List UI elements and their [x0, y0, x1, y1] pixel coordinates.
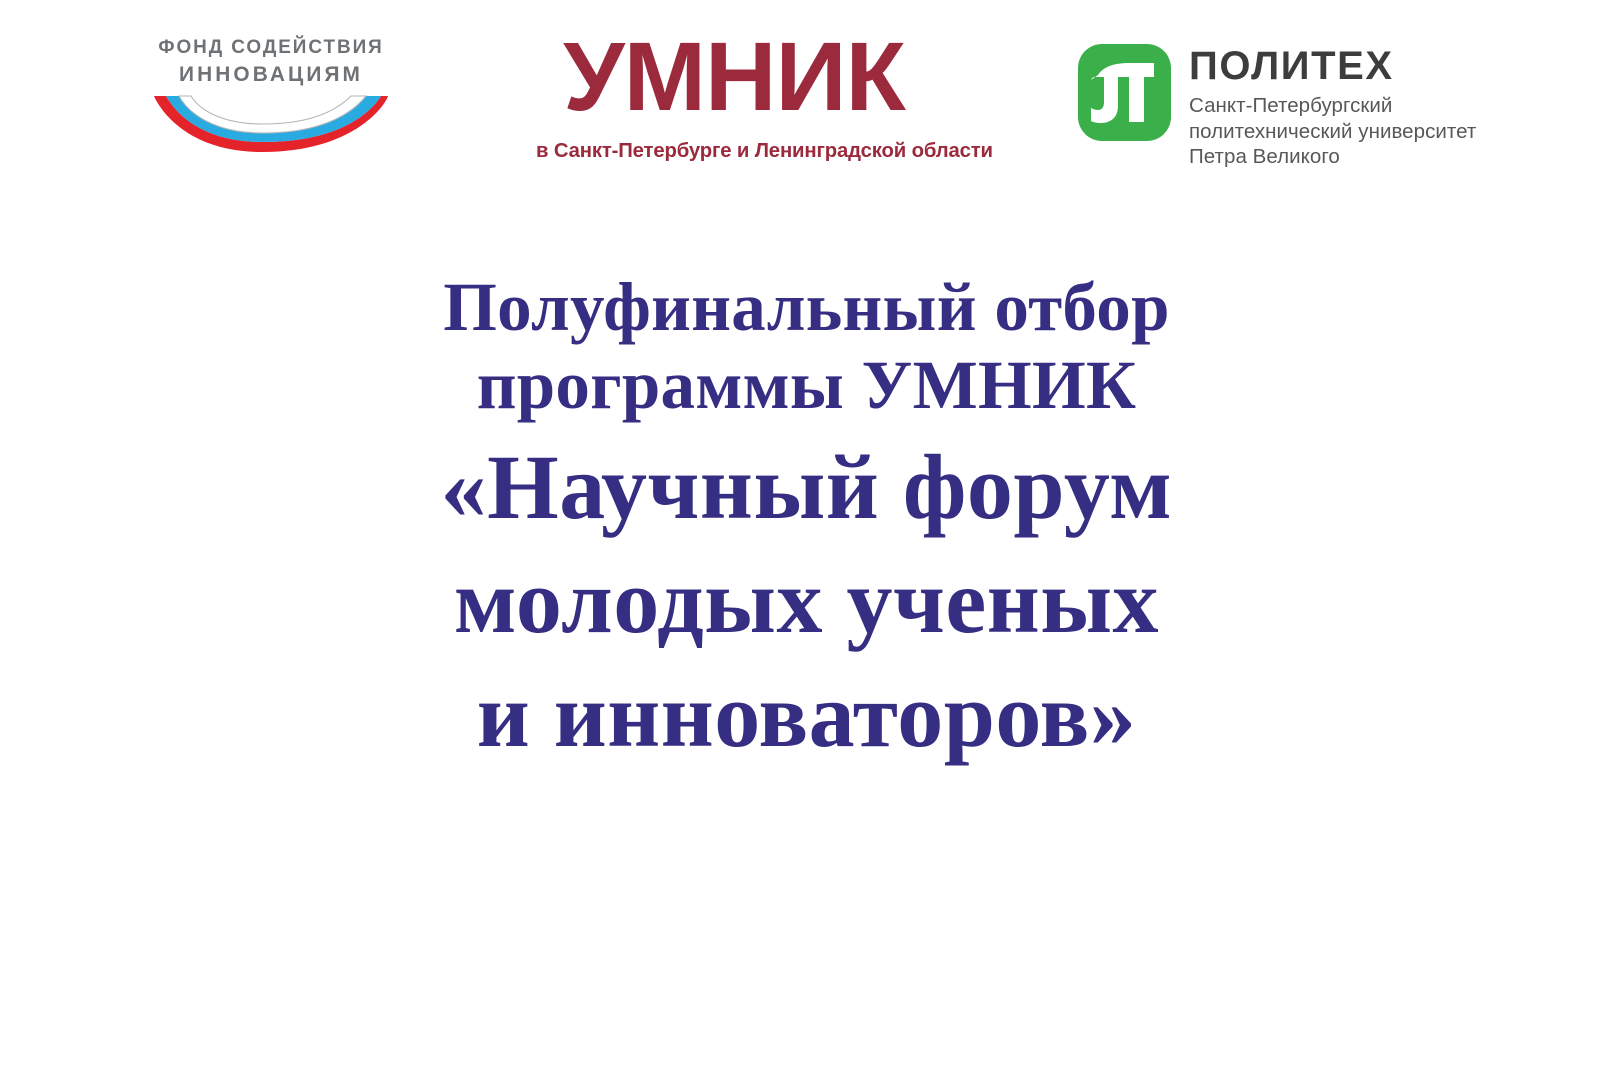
fund-logo-line-1: ФОНД СОДЕЙСТВИЯ	[154, 34, 389, 61]
fund-assistance-logo: ФОНД СОДЕЙСТВИЯ ИННОВАЦИЯМ	[150, 34, 392, 156]
polytech-text-block: ПОЛИТЕХ Санкт-Петербургский политехничес…	[1189, 44, 1476, 170]
umnik-wordmark: УМНИК	[530, 28, 938, 126]
title-line-1: Полуфинальный отбор	[0, 268, 1613, 346]
title-line-3: «Научный форум	[0, 430, 1613, 544]
title-line-4: молодых ученых	[0, 544, 1613, 658]
polytech-logo: ПОЛИТЕХ Санкт-Петербургский политехничес…	[1078, 44, 1476, 170]
page-title: Полуфинальный отбор программы УМНИК «Нау…	[0, 268, 1613, 772]
umnik-subtitle: в Санкт-Петербурге и Ленинградской облас…	[536, 139, 932, 163]
polytech-subtitle-line-2: политехнический университет	[1189, 119, 1476, 145]
title-line-5: и инноваторов»	[0, 658, 1613, 772]
polytech-wordmark: ПОЛИТЕХ	[1189, 46, 1476, 86]
polytech-subtitle-line-3: Петра Великого	[1189, 144, 1476, 170]
title-line-2: программы УМНИК	[0, 346, 1613, 424]
umnik-logo: УМНИК в Санкт-Петербурге и Ленинградской…	[534, 28, 934, 163]
polytech-subtitle-line-1: Санкт-Петербургский	[1189, 93, 1476, 119]
logo-bar: ФОНД СОДЕЙСТВИЯ ИННОВАЦИЯМ УМНИК в Санкт…	[0, 0, 1613, 200]
russian-tricolor-swoosh-icon	[150, 94, 392, 156]
fund-logo-line-2: ИННОВАЦИЯМ	[154, 61, 389, 88]
pi-symbol-icon	[1078, 44, 1171, 141]
